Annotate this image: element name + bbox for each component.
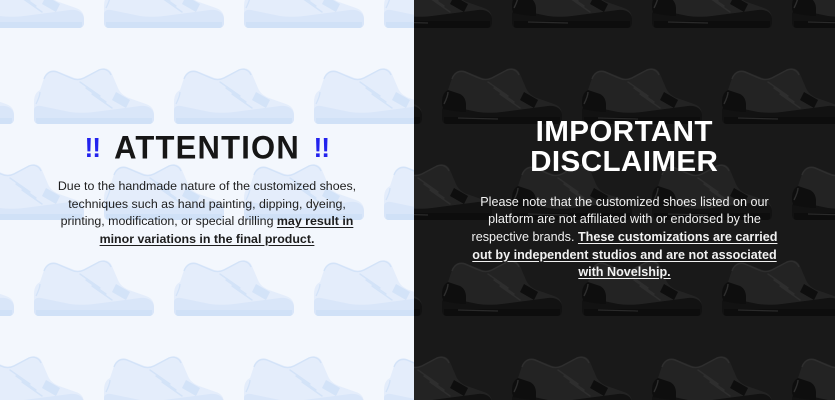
attention-body: Due to the handmade nature of the custom… xyxy=(47,178,367,248)
disclaimer-panel: IMPORTANT DISCLAIMER Please note that th… xyxy=(414,0,835,400)
disclaimer-content: IMPORTANT DISCLAIMER Please note that th… xyxy=(414,0,835,400)
disclaimer-banner: !! ATTENTION !! Due to the handmade natu… xyxy=(0,0,835,400)
attention-heading: !! ATTENTION !! xyxy=(84,132,329,163)
attention-panel: !! ATTENTION !! Due to the handmade natu… xyxy=(0,0,414,400)
attention-content: !! ATTENTION !! Due to the handmade natu… xyxy=(0,0,414,400)
disclaimer-heading-line1: IMPORTANT xyxy=(530,118,718,148)
exclamation-left-icon: !! xyxy=(85,134,100,162)
attention-heading-word: ATTENTION xyxy=(114,131,300,164)
disclaimer-body: Please note that the customized shoes li… xyxy=(463,194,787,282)
disclaimer-heading-line2: DISCLAIMER xyxy=(530,148,718,178)
disclaimer-heading: IMPORTANT DISCLAIMER xyxy=(530,118,718,178)
exclamation-right-icon: !! xyxy=(314,134,329,162)
